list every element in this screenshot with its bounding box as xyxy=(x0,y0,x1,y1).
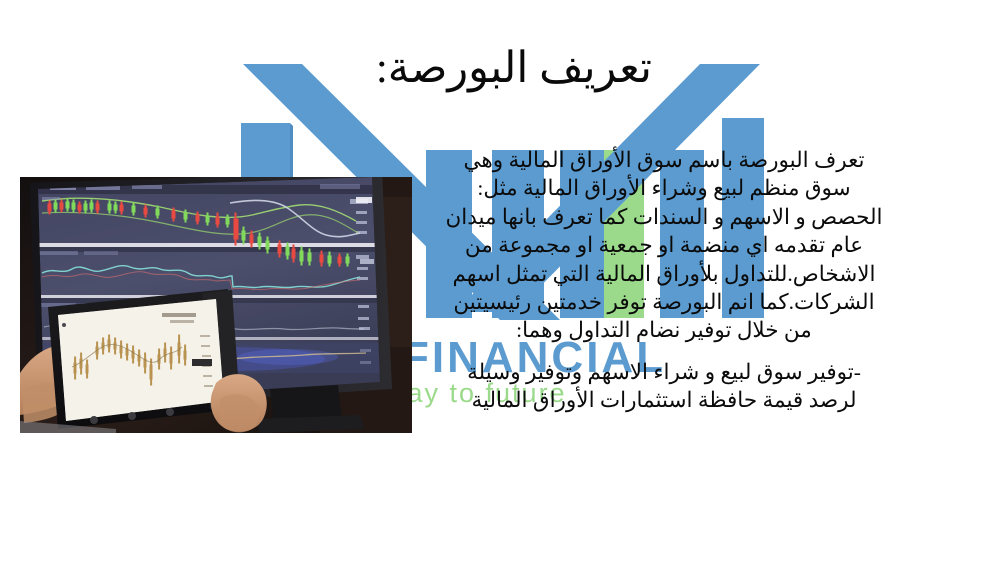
page-title: تعريف البورصة: xyxy=(376,44,652,93)
logo-left-upright-bevel xyxy=(290,123,293,185)
body-text-block: تعرف البورصة باسم سوق الأوراق المالية وه… xyxy=(414,146,914,414)
body-line: الشركات.كما انم البورصة توفر خدمتين رئيس… xyxy=(414,288,914,316)
body-line: سوق منظم لبيع وشراء الأوراق المالية مثل: xyxy=(414,174,914,202)
body-line: الحصص و الاسهم و السندات كما تعرف بانها … xyxy=(414,203,914,231)
trading-photo xyxy=(20,177,412,433)
body-line: من خلال توفير نضام التداول وهما: xyxy=(414,316,914,344)
paragraph-spacer xyxy=(414,345,914,358)
logo-left-upright xyxy=(241,123,290,185)
body-line: تعرف البورصة باسم سوق الأوراق المالية وه… xyxy=(414,146,914,174)
body-line: عام تقدمه اي منضمة او جمعية او مجموعة من xyxy=(414,231,914,259)
body-line: لرصد قيمة حافظة استثمارات الأوراق المالي… xyxy=(414,386,914,414)
body-line: -توفير سوق لبيع و شراء الاسهم وتوفير وسي… xyxy=(414,358,914,386)
presentation-slide: D FINANCIAL way to future تعريف البورصة:… xyxy=(0,0,1000,563)
body-line: الاشخاص.للتداول بلأوراق المالية التي تمث… xyxy=(414,260,914,288)
